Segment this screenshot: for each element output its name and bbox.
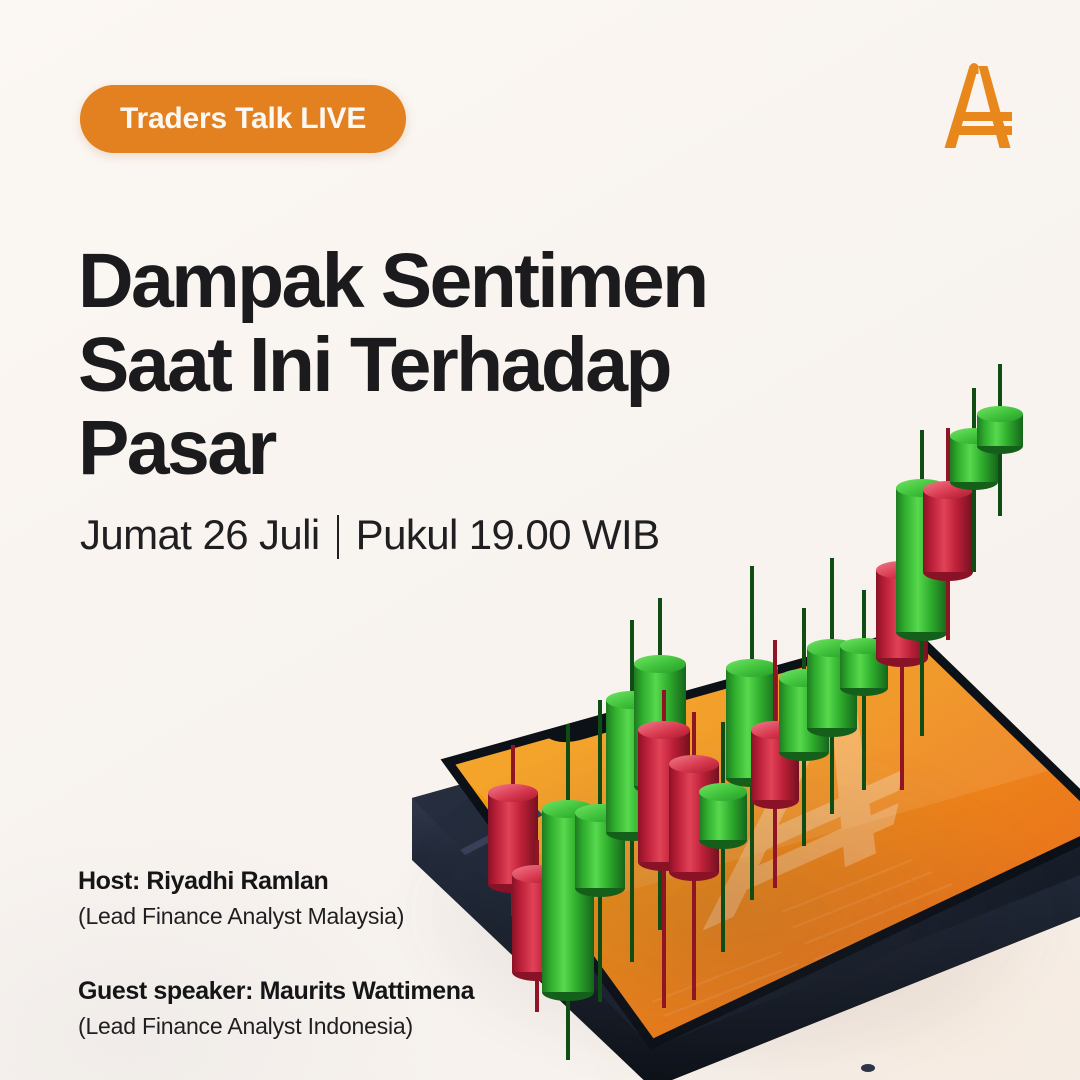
headline-line-2: Saat Ini Terhadap	[78, 324, 818, 408]
brand-logo[interactable]	[928, 56, 1032, 160]
schedule-divider	[337, 515, 339, 559]
headline-line-1: Dampak Sentimen	[78, 240, 818, 324]
event-date: Jumat 26 Juli	[80, 511, 320, 559]
credit-host: Host: Riyadhi Ramlan (Lead Finance Analy…	[78, 866, 548, 932]
event-schedule: Jumat 26 Juli Pukul 19.00 WIB	[80, 511, 659, 559]
guest-name: Guest speaker: Maurits Wattimena	[78, 976, 548, 1007]
poster-canvas: Traders Talk LIVE Dampak Sentimen Saat I…	[0, 0, 1080, 1080]
candle-19	[977, 364, 1023, 516]
guest-role: (Lead Finance Analyst Indonesia)	[78, 1012, 548, 1042]
candle-17	[923, 428, 973, 640]
candle-18	[950, 388, 998, 572]
headline-line-3: Pasar	[78, 407, 818, 491]
host-role: (Lead Finance Analyst Malaysia)	[78, 902, 548, 932]
live-badge[interactable]: Traders Talk LIVE	[80, 85, 406, 153]
credit-guest: Guest speaker: Maurits Wattimena (Lead F…	[78, 976, 548, 1042]
poster-headline: Dampak Sentimen Saat Ini Terhadap Pasar	[78, 240, 818, 492]
host-name: Host: Riyadhi Ramlan	[78, 866, 548, 897]
event-time: Pukul 19.00 WIB	[356, 511, 660, 559]
speaker-credits: Host: Riyadhi Ramlan (Lead Finance Analy…	[78, 866, 548, 1042]
live-badge-label: Traders Talk LIVE	[120, 102, 366, 136]
